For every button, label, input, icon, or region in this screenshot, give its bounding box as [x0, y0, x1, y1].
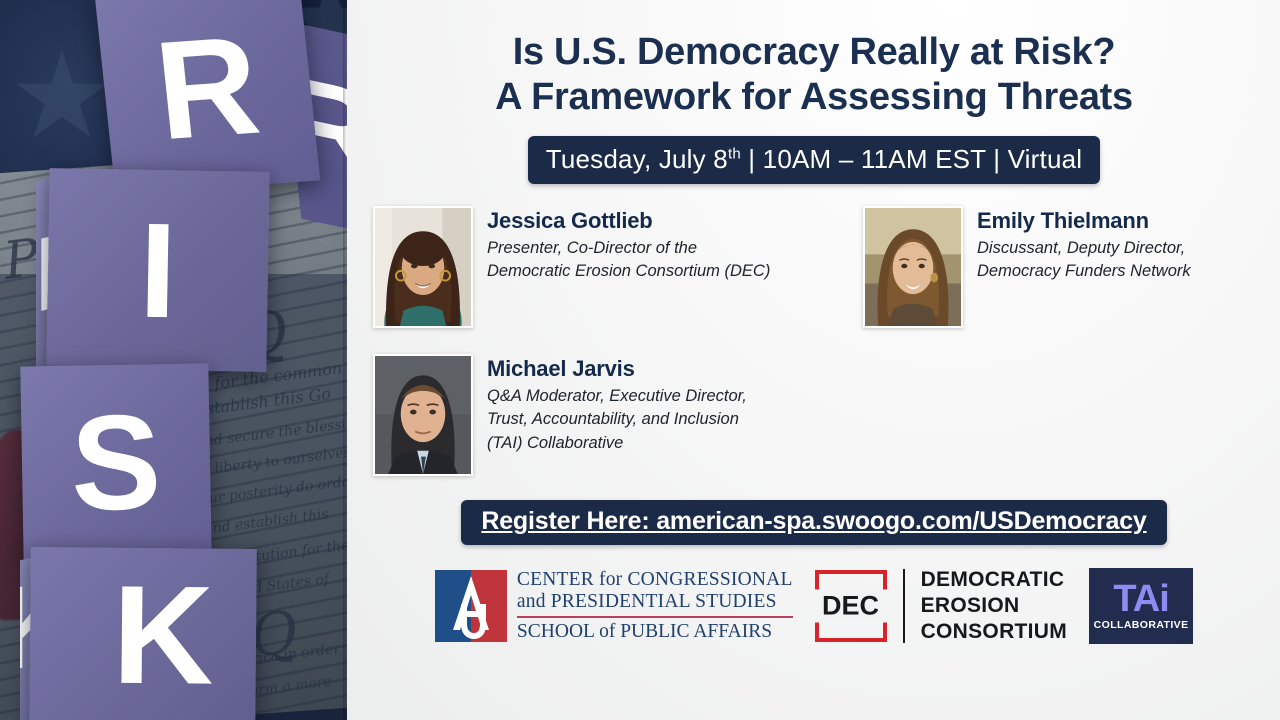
webinar-promo-poster: P Q Q for the common establish this Go a… [0, 0, 1280, 720]
logo-tai-collaborative: TAi COLLABORATIVE [1089, 568, 1193, 644]
avatar [863, 206, 963, 328]
speaker-info: Jessica Gottlieb Presenter, Co-Director … [473, 206, 770, 283]
avatar [373, 206, 473, 328]
au-logo-line-1: CENTER for CONGRESSIONAL [517, 569, 793, 591]
block-letter: K [112, 554, 215, 717]
left-art-panel: P Q Q for the common establish this Go a… [0, 0, 347, 720]
dec-logo-monogram: DEC [809, 589, 893, 622]
dec-logo-wordmark: DEMOCRATIC EROSION CONSORTIUM [921, 567, 1068, 644]
event-date-banner: Tuesday, July 8th | 10AM – 11AM EST | Vi… [528, 136, 1101, 184]
emily-thielmann-headshot [865, 208, 961, 326]
dec-logo-divider [903, 569, 905, 643]
title-line-2: A Framework for Assessing Threats [347, 75, 1280, 120]
speaker-name: Jessica Gottlieb [487, 208, 770, 234]
speaker-name: Michael Jarvis [487, 356, 747, 382]
title-line-1: Is U.S. Democracy Really at Risk? [347, 30, 1280, 75]
date-banner-wrapper: Tuesday, July 8th | 10AM – 11AM EST | Vi… [347, 136, 1280, 184]
date-text: Tuesday, July 8 [546, 144, 728, 174]
speaker-row-top: Jessica Gottlieb Presenter, Co-Director … [373, 206, 1263, 328]
speaker-info: Michael Jarvis Q&A Moderator, Executive … [473, 354, 747, 455]
au-logo-icon [435, 570, 507, 642]
speaker-row-bottom: Michael Jarvis Q&A Moderator, Executive … [373, 354, 1263, 476]
michael-jarvis-headshot [375, 356, 471, 474]
speaker-info: Emily Thielmann Discussant, Deputy Direc… [963, 206, 1191, 283]
speaker-title: Q&A Moderator, Executive Director, Trust… [487, 385, 747, 455]
speaker-title: Discussant, Deputy Director, Democracy F… [977, 237, 1191, 284]
avatar [373, 354, 473, 476]
au-logo-line-2: and PRESIDENTIAL STUDIES [517, 591, 793, 613]
risk-block-letter-r: R [95, 0, 321, 195]
speakers-section: Jessica Gottlieb Presenter, Co-Director … [347, 206, 1280, 476]
sponsor-logos: CENTER for CONGRESSIONAL and PRESIDENTIA… [347, 567, 1280, 644]
jessica-gottlieb-headshot [375, 208, 471, 326]
risk-block-letter-s: S [20, 363, 211, 561]
speaker-name: Emily Thielmann [977, 208, 1191, 234]
au-monogram-icon [435, 570, 507, 642]
au-logo-text: CENTER for CONGRESSIONAL and PRESIDENTIA… [517, 569, 793, 642]
logo-au-center-congressional-presidential-studies: CENTER for CONGRESSIONAL and PRESIDENTIA… [435, 569, 793, 642]
date-ordinal-suffix: th [728, 146, 741, 163]
register-link-banner[interactable]: Register Here: american-spa.swoogo.com/U… [461, 500, 1166, 545]
tai-logo-subtitle: COLLABORATIVE [1094, 619, 1189, 631]
time-and-format-text: | 10AM – 11AM EST | Virtual [741, 144, 1082, 174]
risk-block-letter-i: I [46, 168, 269, 372]
block-letter: R [149, 4, 267, 172]
tai-logo-monogram: TAi [1113, 581, 1168, 617]
dec-logo-icon: DEC [815, 570, 887, 642]
speaker-michael-jarvis: Michael Jarvis Q&A Moderator, Executive … [373, 354, 863, 476]
risk-block-letter-k: K [29, 547, 257, 720]
speaker-jessica-gottlieb: Jessica Gottlieb Presenter, Co-Director … [373, 206, 863, 328]
content-panel: Is U.S. Democracy Really at Risk? A Fram… [347, 0, 1280, 720]
block-letter: I [138, 192, 178, 348]
page-title: Is U.S. Democracy Really at Risk? A Fram… [347, 0, 1280, 120]
au-logo-divider [517, 616, 793, 618]
speaker-emily-thielmann: Emily Thielmann Discussant, Deputy Direc… [863, 206, 1263, 328]
register-wrapper: Register Here: american-spa.swoogo.com/U… [347, 500, 1280, 545]
au-logo-line-3: SCHOOL of PUBLIC AFFAIRS [517, 621, 793, 643]
logo-democratic-erosion-consortium: DEC DEMOCRATIC EROSION CONSORTIUM [815, 567, 1068, 644]
speaker-title: Presenter, Co-Director of the Democratic… [487, 237, 770, 284]
block-letter: S [70, 384, 163, 541]
